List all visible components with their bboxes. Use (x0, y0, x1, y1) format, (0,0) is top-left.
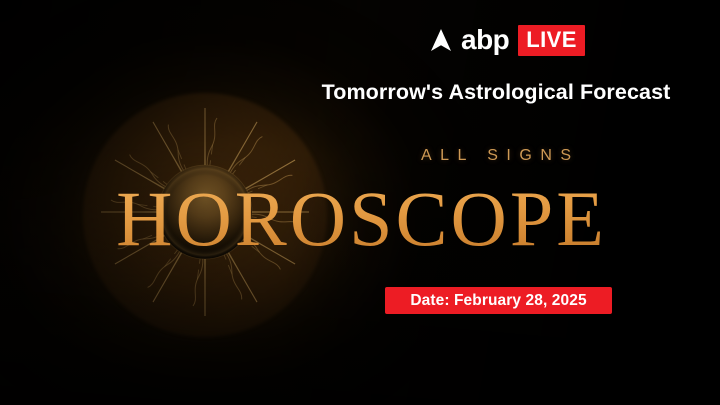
abp-wordmark: abp (461, 26, 509, 54)
hero-title-horoscope: HOROSCOPE (0, 180, 720, 258)
abp-live-logo[interactable]: abp LIVE (430, 25, 585, 55)
date-badge-label: Date: February 28, 2025 (410, 292, 586, 310)
abp-arrow-icon (430, 28, 452, 52)
live-badge: LIVE (518, 25, 585, 56)
eyebrow-all-signs: ALL SIGNS (0, 147, 702, 165)
page-headline: Tomorrow's Astrological Forecast (0, 80, 702, 105)
horoscope-promo-graphic: abp LIVE Tomorrow's Astrological Forecas… (0, 0, 720, 405)
date-badge: Date: February 28, 2025 (385, 287, 612, 314)
